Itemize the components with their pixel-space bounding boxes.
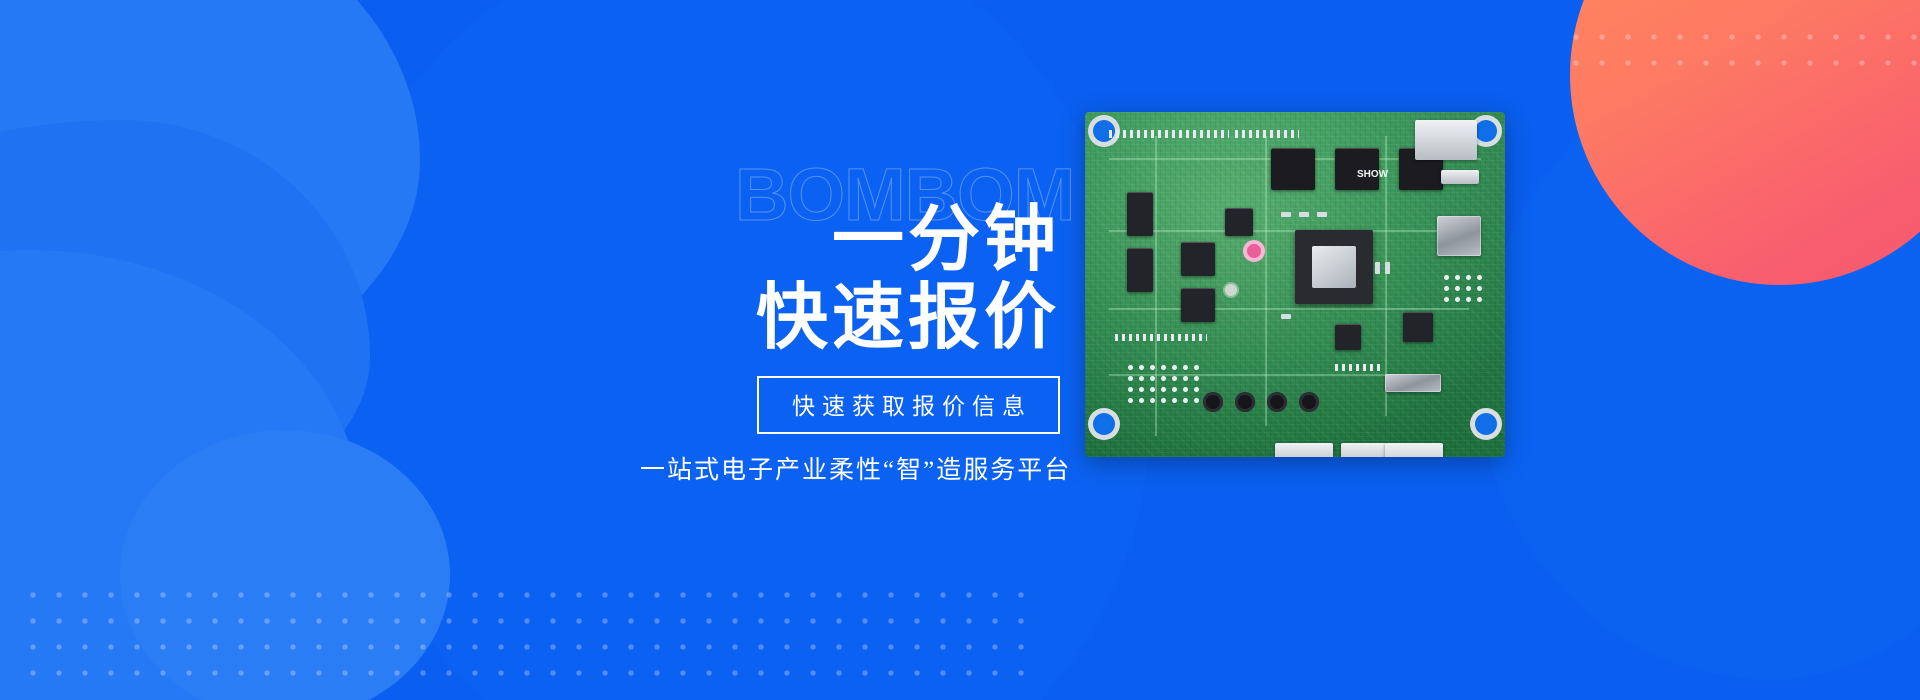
pcb-shield-can — [1385, 374, 1441, 392]
pcb-connector — [1341, 443, 1387, 457]
banner-content: BOMBOM 一分钟 快速报价 快速获取报价信息 一站式电子产业柔性“智”造服务… — [640, 150, 1060, 486]
pcb-connector — [1441, 170, 1479, 184]
pcb-shield-can — [1437, 216, 1481, 256]
pcb-chip — [1403, 312, 1433, 342]
page-title: 一分钟 快速报价 — [640, 202, 1060, 358]
pcb-trace — [1265, 136, 1267, 426]
pcb-pin-header — [1235, 130, 1299, 138]
pcb-processor — [1295, 230, 1373, 304]
pcb-chip — [1181, 242, 1215, 276]
dot-grid-top-right — [1563, 24, 1918, 76]
pcb-pin-header — [1335, 364, 1381, 371]
pcb-audio-jack — [1299, 392, 1319, 412]
pcb-capacitor — [1281, 314, 1291, 319]
pcb-connector — [1385, 443, 1443, 457]
pcb-pink-jack — [1243, 240, 1265, 262]
pcb-capacitor — [1375, 262, 1380, 274]
pcb-chip — [1127, 192, 1153, 236]
pcb-audio-jack — [1235, 392, 1255, 412]
pcb-mount-hole — [1475, 120, 1497, 142]
pcb-chip — [1127, 248, 1153, 292]
pcb-mount-hole — [1475, 413, 1497, 435]
pcb-chip — [1271, 148, 1315, 190]
pcb-pin-header — [1115, 334, 1207, 341]
pcb-via-field — [1125, 362, 1203, 406]
pcb-capacitor — [1299, 212, 1309, 217]
pcb-trace — [1109, 230, 1449, 232]
pcb-chip — [1225, 208, 1253, 236]
pcb-pin-header — [1109, 130, 1229, 138]
pcb-capacitor — [1281, 212, 1291, 217]
headline-line-1: 一分钟 — [640, 202, 1060, 280]
pcb-audio-jack — [1203, 392, 1223, 412]
pcb-connector — [1415, 120, 1477, 160]
pcb-silkscreen-badge: SHOW — [1357, 170, 1388, 181]
tagline: 一站式电子产业柔性“智”造服务平台 — [640, 450, 1060, 486]
pcb-trace — [1109, 308, 1469, 310]
pcb-pad — [1225, 284, 1237, 296]
pcb-board-image: SHOW — [1085, 112, 1505, 457]
dot-grid-bottom-left — [20, 582, 1030, 690]
headline-line-2: 快速报价 — [640, 280, 1060, 358]
pcb-mount-hole — [1093, 413, 1115, 435]
get-quote-button[interactable]: 快速获取报价信息 — [757, 376, 1060, 434]
pcb-via-field — [1441, 272, 1485, 306]
pcb-connector — [1275, 443, 1333, 457]
pcb-substrate: SHOW — [1085, 112, 1505, 457]
pcb-audio-jack — [1267, 392, 1287, 412]
pcb-chip — [1181, 288, 1215, 322]
pcb-capacitor — [1385, 262, 1390, 274]
pcb-chip — [1335, 324, 1361, 350]
pcb-capacitor — [1317, 212, 1327, 217]
hero-banner: SHOW BOMBOM 一分钟 快速报价 快速获取报价信息 一站式电子产业柔性“… — [0, 0, 1920, 700]
